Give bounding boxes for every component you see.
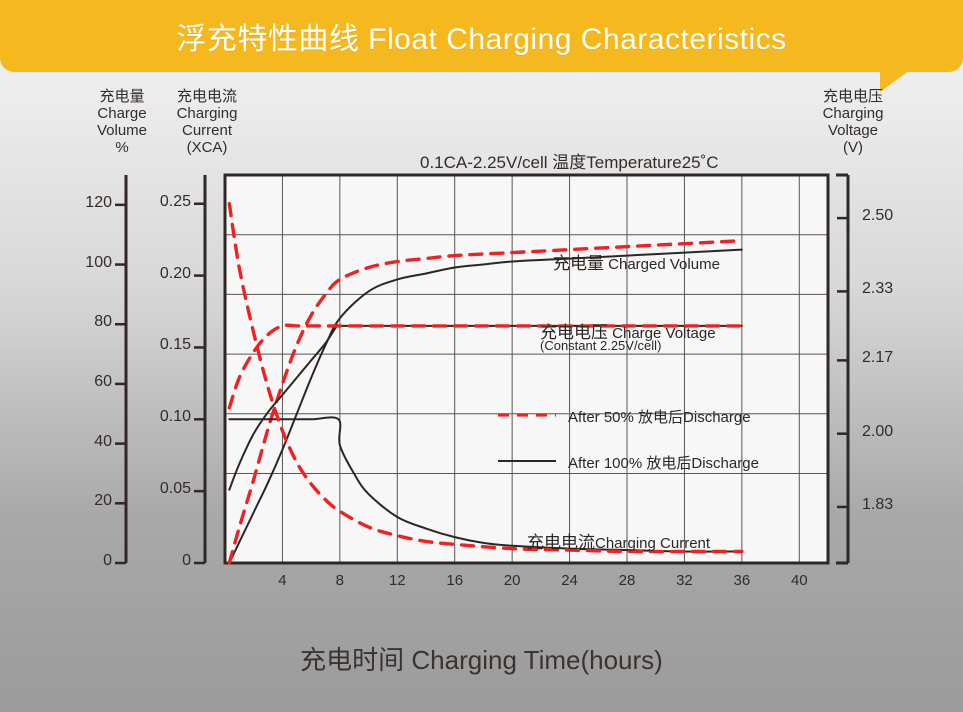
tick-label-charging_voltage: 2.17	[862, 349, 893, 367]
tick-label-time: 8	[320, 572, 360, 589]
tick-label-charging_voltage: 2.33	[862, 280, 893, 298]
tick-label-charge_volume: 120	[85, 194, 112, 212]
annotation-charged-volume: 充电量 Charged Volume	[553, 249, 720, 274]
tick-label-charging_current: 0.05	[160, 480, 191, 498]
tick-label-time: 40	[779, 572, 819, 589]
annotation-charged-volume-en: Charged Volume	[604, 256, 720, 273]
annotation-charge-voltage-sub: (Constant 2.25V/cell)	[540, 338, 661, 353]
tick-label-charge_volume: 100	[85, 254, 112, 272]
tick-label-time: 28	[607, 572, 647, 589]
tick-label-charge_volume: 60	[94, 373, 112, 391]
tick-label-charge_volume: 20	[94, 492, 112, 510]
tick-label-time: 20	[492, 572, 532, 589]
annotation-charging-current-en: Charging Current	[595, 535, 710, 552]
tick-label-charging_current: 0	[182, 552, 191, 570]
ticks-charge-volume	[115, 205, 126, 563]
tick-label-charge_volume: 80	[94, 313, 112, 331]
tick-label-time: 36	[722, 572, 762, 589]
tick-label-charge_volume: 40	[94, 433, 112, 451]
tick-label-charging_current: 0.25	[160, 193, 191, 211]
tick-label-charging_current: 0.15	[160, 336, 191, 354]
tick-label-time: 24	[550, 572, 590, 589]
axis-spine-charging-voltage	[836, 175, 848, 563]
tick-label-charging_current: 0.10	[160, 408, 191, 426]
tick-label-time: 32	[664, 572, 704, 589]
tick-label-charge_volume: 0	[103, 552, 112, 570]
tick-label-time: 4	[262, 572, 302, 589]
annotation-charging-current: 充电电流Charging Current	[527, 528, 710, 553]
float-charging-chart	[0, 0, 963, 712]
legend-label-after-50: After 50% 放电后Discharge	[568, 406, 751, 427]
tick-label-charging_current: 0.20	[160, 265, 191, 283]
tick-label-charging_voltage: 2.00	[862, 423, 893, 441]
tick-label-time: 16	[435, 572, 475, 589]
tick-label-time: 12	[377, 572, 417, 589]
annotation-charging-current-cn: 充电电流	[527, 533, 595, 552]
x-axis-title: 充电时间 Charging Time(hours)	[0, 640, 963, 677]
legend-label-after-100: After 100% 放电后Discharge	[568, 452, 759, 473]
ticks-charging-voltage	[837, 218, 848, 507]
tick-label-charging_voltage: 2.50	[862, 207, 893, 225]
ticks-charging-current	[194, 204, 205, 563]
annotation-charged-volume-cn: 充电量	[553, 254, 604, 273]
tick-label-charging_voltage: 1.83	[862, 496, 893, 514]
